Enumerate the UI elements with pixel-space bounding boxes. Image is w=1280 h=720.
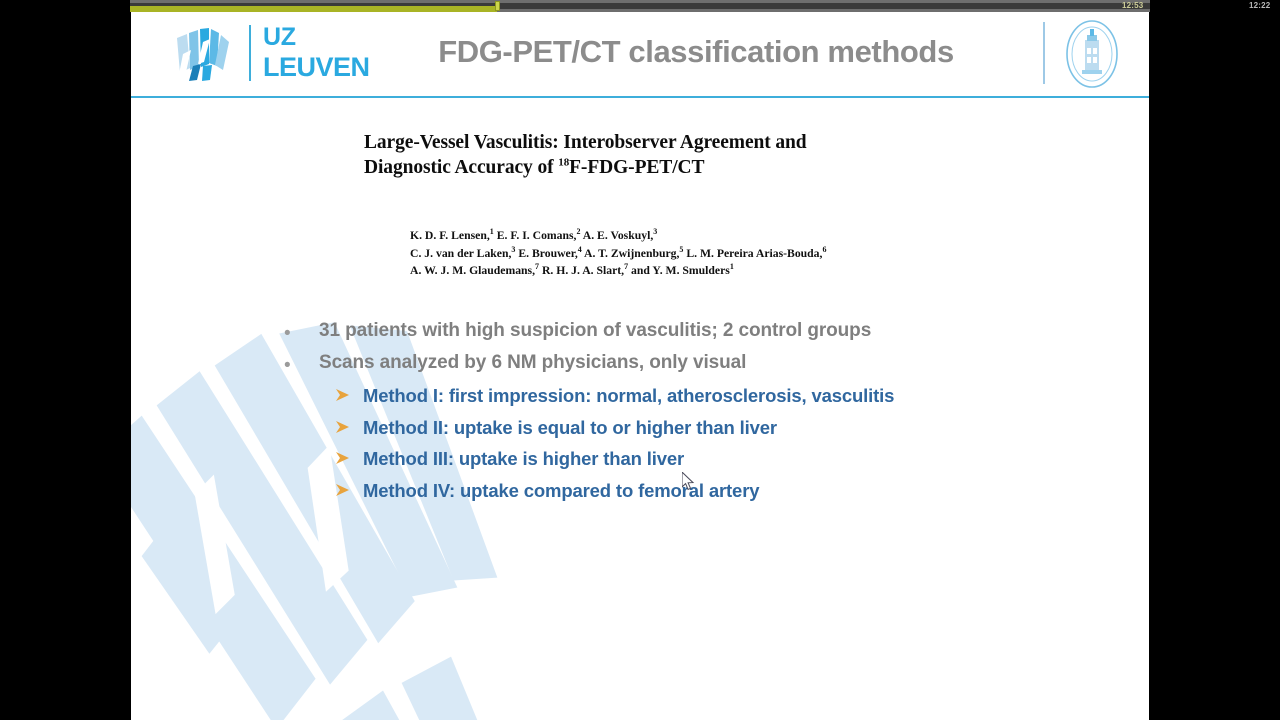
ku-leuven-seal [1061, 18, 1123, 90]
video-current-time: 12:53 [1122, 0, 1143, 12]
author-name: A. E. Voskuyl, [580, 229, 653, 242]
video-total-time: 12:22 [1249, 0, 1270, 12]
method-list: Method I: first impression: normal, athe… [131, 383, 1149, 509]
paper-title: Large-Vessel Vasculitis: Interobserver A… [364, 130, 1064, 180]
seal-divider [1043, 22, 1045, 84]
method-label: Method I: first impression: normal, athe… [363, 383, 894, 409]
slide-title: FDG-PET/CT classification methods [381, 34, 1011, 70]
screen: 12:53 12:22 [0, 0, 1280, 720]
paper-authors: K. D. F. Lensen,1 E. F. I. Comans,2 A. E… [410, 227, 1110, 280]
arrow-bullet-icon [335, 387, 351, 403]
author-name: E. F. I. Comans, [494, 229, 577, 242]
paper-title-line1: Large-Vessel Vasculitis: Interobserver A… [364, 130, 1064, 155]
author-name: K. D. F. Lensen, [410, 229, 490, 242]
method-item: Method III: uptake is higher than liver [131, 446, 1149, 478]
video-progress-handle[interactable] [495, 1, 500, 11]
bullet-dot-icon: • [284, 324, 291, 343]
arrow-bullet-icon [335, 419, 351, 435]
author-name: and Y. M. Smulders [628, 264, 730, 277]
bullet-item: •Scans analyzed by 6 NM physicians, only… [131, 350, 1149, 382]
author-name: C. J. van der Laken, [410, 247, 511, 260]
paper-title-line2-post: F-FDG-PET/CT [569, 157, 704, 178]
method-label: Method II: uptake is equal to or higher … [363, 415, 777, 441]
mouse-cursor [682, 472, 696, 492]
method-label: Method IV: uptake compared to femoral ar… [363, 478, 759, 504]
author-affiliation: 3 [653, 227, 657, 236]
author-name: R. H. J. A. Slart, [539, 264, 624, 277]
paper-title-line2: Diagnostic Accuracy of 18F-FDG-PET/CT [364, 155, 1064, 180]
method-item: Method IV: uptake compared to femoral ar… [131, 478, 1149, 510]
bullet-label: Scans analyzed by 6 NM physicians, only … [319, 350, 746, 376]
author-name: E. Brouwer, [515, 247, 577, 260]
ku-leuven-seal-wrap [1043, 18, 1129, 90]
bullet-list: •31 patients with high suspicion of vasc… [131, 318, 1149, 382]
uz-leuven-logo-mark [173, 24, 235, 82]
method-label: Method III: uptake is higher than liver [363, 446, 684, 472]
author-name: L. M. Pereira Arias-Bouda, [683, 247, 822, 260]
method-item: Method II: uptake is equal to or higher … [131, 415, 1149, 447]
arrow-bullet-icon [335, 450, 351, 466]
video-player-controls[interactable] [130, 0, 1150, 12]
paper-title-isotope: 18 [558, 157, 569, 169]
presentation-slide: UZ LEUVEN FDG-PET/CT classification meth… [131, 12, 1149, 720]
header-divider-rule [131, 96, 1149, 98]
author-name: A. T. Zwijnenburg, [582, 247, 680, 260]
logo-line-uz: UZ [263, 22, 370, 52]
logo-divider [249, 25, 251, 81]
author-line: K. D. F. Lensen,1 E. F. I. Comans,2 A. E… [410, 227, 1110, 245]
bullet-dot-icon: • [284, 356, 291, 375]
logo-line-leuven: LEUVEN [263, 52, 370, 82]
author-line: C. J. van der Laken,3 E. Brouwer,4 A. T.… [410, 245, 1110, 263]
paper-title-line2-pre: Diagnostic Accuracy of [364, 157, 558, 178]
author-affiliation: 1 [730, 262, 734, 271]
arrow-bullet-icon [335, 482, 351, 498]
method-item: Method I: first impression: normal, athe… [131, 383, 1149, 415]
video-progress-track[interactable] [130, 3, 1150, 9]
bullet-label: 31 patients with high suspicion of vascu… [319, 318, 871, 344]
bullet-item: •31 patients with high suspicion of vasc… [131, 318, 1149, 350]
author-affiliation: 6 [822, 245, 826, 254]
author-line: A. W. J. M. Glaudemans,7 R. H. J. A. Sla… [410, 262, 1110, 280]
uz-leuven-logo: UZ LEUVEN [173, 20, 373, 86]
uz-leuven-wordmark: UZ LEUVEN [263, 22, 370, 82]
slide-header: UZ LEUVEN FDG-PET/CT classification meth… [131, 12, 1149, 96]
author-name: A. W. J. M. Glaudemans, [410, 264, 535, 277]
